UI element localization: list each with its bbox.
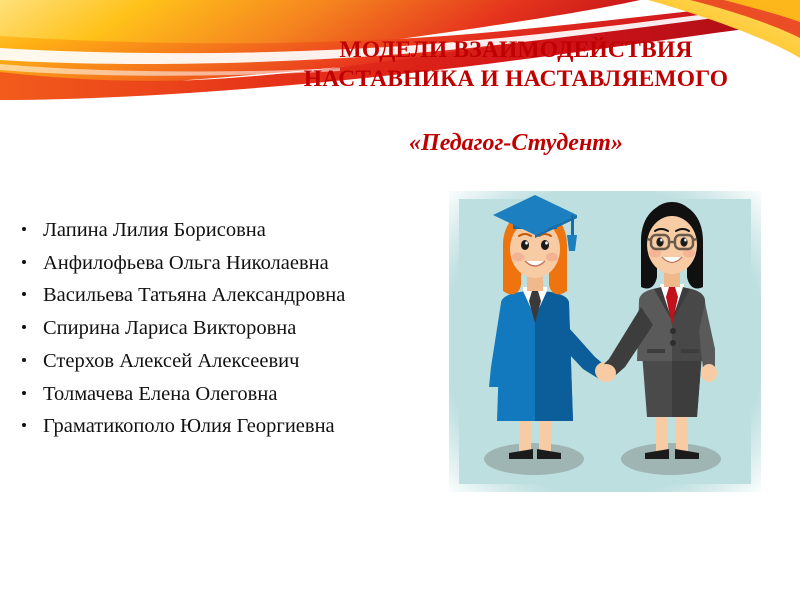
slide-subtitle: «Педагог-Студент» xyxy=(256,128,776,158)
slide-title: МОДЕЛИ ВЗАИМОДЕЙСТВИЯ НАСТАВНИКА И НАСТА… xyxy=(256,36,776,94)
participant-name: Лапина Лилия Борисовна xyxy=(43,219,266,241)
participant-name: Анфилофьева Ольга Николаевна xyxy=(43,252,329,274)
list-item: Васильева Татьяна Александровна xyxy=(16,279,436,312)
list-item: Толмачева Елена Олеговна xyxy=(16,378,436,411)
participant-name: Васильева Татьяна Александровна xyxy=(43,284,345,306)
student-shadow xyxy=(484,443,584,475)
list-item: Лапина Лилия Борисовна xyxy=(16,214,436,247)
bullet-dot-icon xyxy=(22,260,26,264)
participant-name: Граматикополо Юлия Георгиевна xyxy=(43,415,335,437)
bullet-dot-icon xyxy=(22,391,26,395)
student-and-teacher-handshake-illustration xyxy=(449,191,761,492)
participant-name: Стерхов Алексей Алексеевич xyxy=(43,350,299,372)
bullet-dot-icon xyxy=(22,325,26,329)
bullet-dot-icon xyxy=(22,292,26,296)
presentation-slide: МОДЕЛИ ВЗАИМОДЕЙСТВИЯ НАСТАВНИКА И НАСТА… xyxy=(0,0,800,600)
participants-list: Лапина Лилия Борисовна Анфилофьева Ольга… xyxy=(16,214,436,443)
list-item: Граматикополо Юлия Георгиевна xyxy=(16,410,436,443)
participant-name: Толмачева Елена Олеговна xyxy=(43,383,277,405)
list-item: Анфилофьева Ольга Николаевна xyxy=(16,247,436,280)
participant-name: Спирина Лариса Викторовна xyxy=(43,317,296,339)
slide-title-line-2: НАСТАВНИКА И НАСТАВЛЯЕМОГО xyxy=(256,65,776,94)
bullet-dot-icon xyxy=(22,358,26,362)
list-item: Стерхов Алексей Алексеевич xyxy=(16,345,436,378)
list-item: Спирина Лариса Викторовна xyxy=(16,312,436,345)
bullet-dot-icon xyxy=(22,423,26,427)
bullet-dot-icon xyxy=(22,227,26,231)
teacher-shadow xyxy=(621,443,721,475)
slide-title-line-1: МОДЕЛИ ВЗАИМОДЕЙСТВИЯ xyxy=(256,36,776,65)
